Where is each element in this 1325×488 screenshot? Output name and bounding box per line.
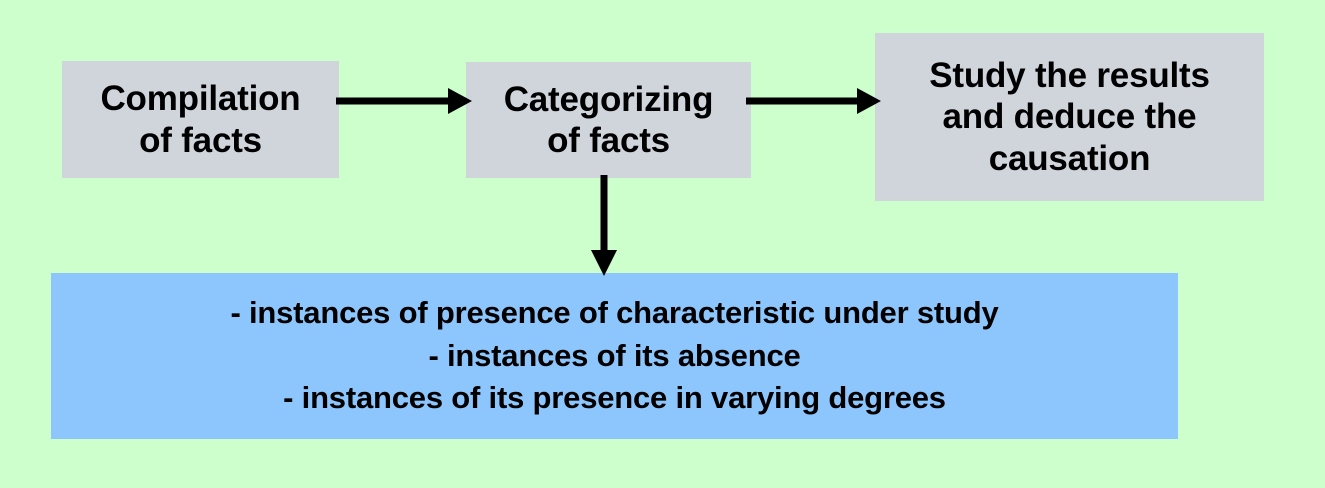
node-compilation-of-facts-label: Compilation of facts bbox=[62, 78, 339, 161]
node-study-the-results[interactable]: Study the results and deduce the causati… bbox=[875, 33, 1264, 201]
node-compilation-of-facts[interactable]: Compilation of facts bbox=[62, 61, 339, 178]
node-categorizing-of-facts-label: Categorizing of facts bbox=[466, 79, 751, 162]
node-instances-list-label: - instances of presence of characteristi… bbox=[51, 292, 1178, 420]
node-study-the-results-label: Study the results and deduce the causati… bbox=[875, 55, 1264, 179]
arrow-right-icon-compilation-to-categorizing bbox=[330, 86, 474, 116]
arrow-down-icon-categorizing-to-instances bbox=[586, 172, 622, 278]
flow-diagram-canvas: Compilation of facts Categorizing of fac… bbox=[0, 0, 1325, 488]
arrow-right-icon-categorizing-to-study bbox=[743, 86, 883, 116]
node-categorizing-of-facts[interactable]: Categorizing of facts bbox=[466, 62, 751, 178]
node-instances-list[interactable]: - instances of presence of characteristi… bbox=[51, 273, 1178, 439]
